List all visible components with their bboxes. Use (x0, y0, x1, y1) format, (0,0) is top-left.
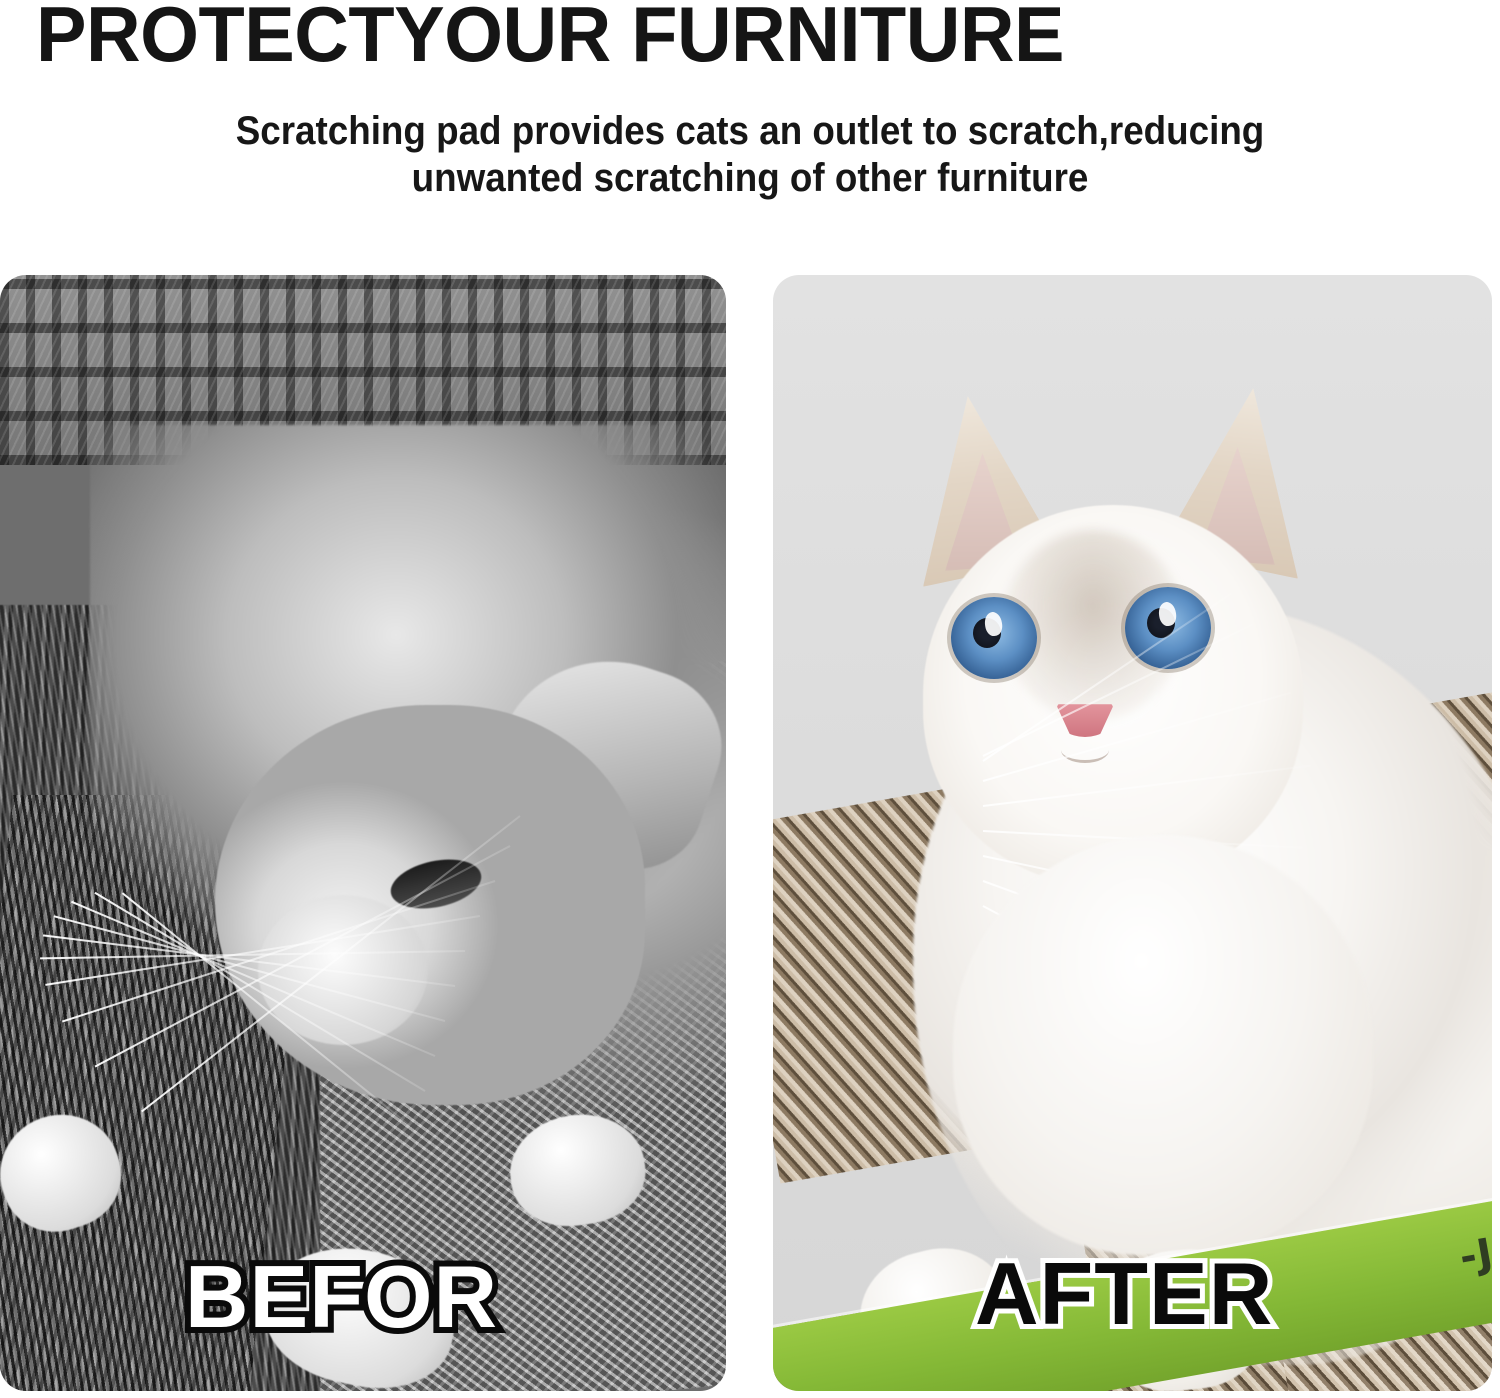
jopoy-logo-green: -Jopoy- (1456, 1207, 1492, 1281)
after-panel: -Jopoy- Jopoy (773, 275, 1492, 1391)
page-title: PROTECTYOUR FURNITURE (36, 0, 1433, 76)
header-block: PROTECTYOUR FURNITURE Scratching pad pro… (0, 0, 1500, 262)
after-photo: -Jopoy- Jopoy (773, 275, 1492, 1391)
marketing-infographic: PROTECTYOUR FURNITURE Scratching pad pro… (0, 0, 1500, 1398)
subtitle-line-1: Scratching pad provides cats an outlet t… (115, 108, 1385, 155)
before-photo (0, 275, 726, 1391)
page-subtitle: Scratching pad provides cats an outlet t… (115, 108, 1385, 202)
white-cat-chest (953, 835, 1373, 1255)
subtitle-line-2: unwanted scratching of other furniture (115, 155, 1385, 202)
before-panel (0, 275, 726, 1391)
comparison-panels: -Jopoy- Jopoy (0, 275, 1500, 1393)
after-label: AFTER (975, 1250, 1273, 1338)
before-label: BEFOR (185, 1253, 498, 1341)
gray-cat-whiskers (40, 775, 560, 1235)
